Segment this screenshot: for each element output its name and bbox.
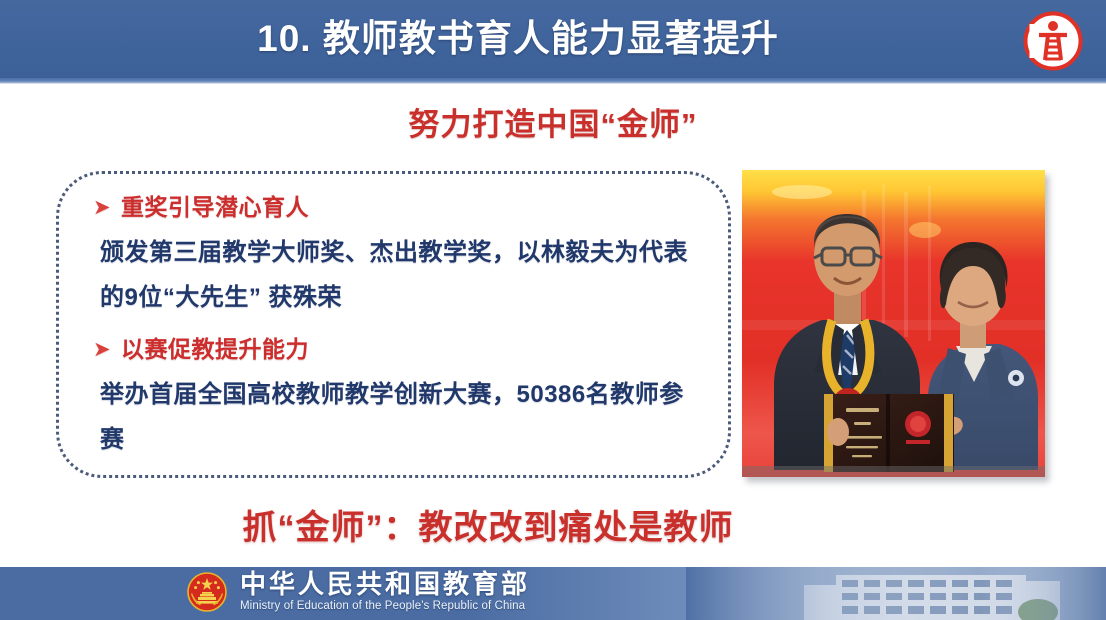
national-emblem-icon xyxy=(186,571,228,613)
bullet-heading-2: 以赛促教提升能力 xyxy=(121,332,309,366)
bullet-body-2: 举办首届全国高校教师教学创新大赛，50386名教师参赛 xyxy=(100,372,700,462)
bullet-heading-row: ➤ 重奖引导潜心育人 xyxy=(93,190,700,224)
bullet-heading-1: 重奖引导潜心育人 xyxy=(121,190,309,224)
ministry-building-photo xyxy=(686,567,1106,620)
bullet-heading-row: ➤ 以赛促教提升能力 xyxy=(93,332,700,366)
bullet-item-1: ➤ 重奖引导潜心育人 颁发第三届教学大师奖、杰出教学奖，以林毅夫为代表的9位“大… xyxy=(93,190,700,320)
red-arrow-bullet-icon: ➤ xyxy=(93,333,112,367)
slide-footer: 中华人民共和国教育部 Ministry of Education of the … xyxy=(0,567,1106,620)
bullet-body-1: 颁发第三届教学大师奖、杰出教学奖，以林毅夫为代表的9位“大先生” 获殊荣 xyxy=(100,230,700,320)
footer-org-cn: 中华人民共和国教育部 xyxy=(240,570,530,599)
red-circular-tower-emblem-icon xyxy=(1022,10,1084,72)
slide-subtitle: 努力打造中国“金师” xyxy=(0,99,1106,144)
award-ceremony-photo xyxy=(742,170,1045,477)
header-bottom-edge xyxy=(0,78,1106,84)
content-panel: ➤ 重奖引导潜心育人 颁发第三届教学大师奖、杰出教学奖，以林毅夫为代表的9位“大… xyxy=(56,171,731,478)
footer-org-en: Ministry of Education of the People's Re… xyxy=(240,599,530,614)
red-arrow-bullet-icon: ➤ xyxy=(93,191,112,225)
page-title: 10. 教师教书育人能力显著提升 xyxy=(0,14,1106,64)
presentation-slide: 10. 教师教书育人能力显著提升 努力打造中国“金师” ➤ 重奖引导潜心育人 颁… xyxy=(0,0,1106,620)
bullet-item-2: ➤ 以赛促教提升能力 举办首届全国高校教师教学创新大赛，50386名教师参赛 xyxy=(93,332,700,462)
conclusion-text: 抓“金师”：教改改到痛处是教师 xyxy=(0,500,1106,549)
footer-brand: 中华人民共和国教育部 Ministry of Education of the … xyxy=(186,570,530,614)
